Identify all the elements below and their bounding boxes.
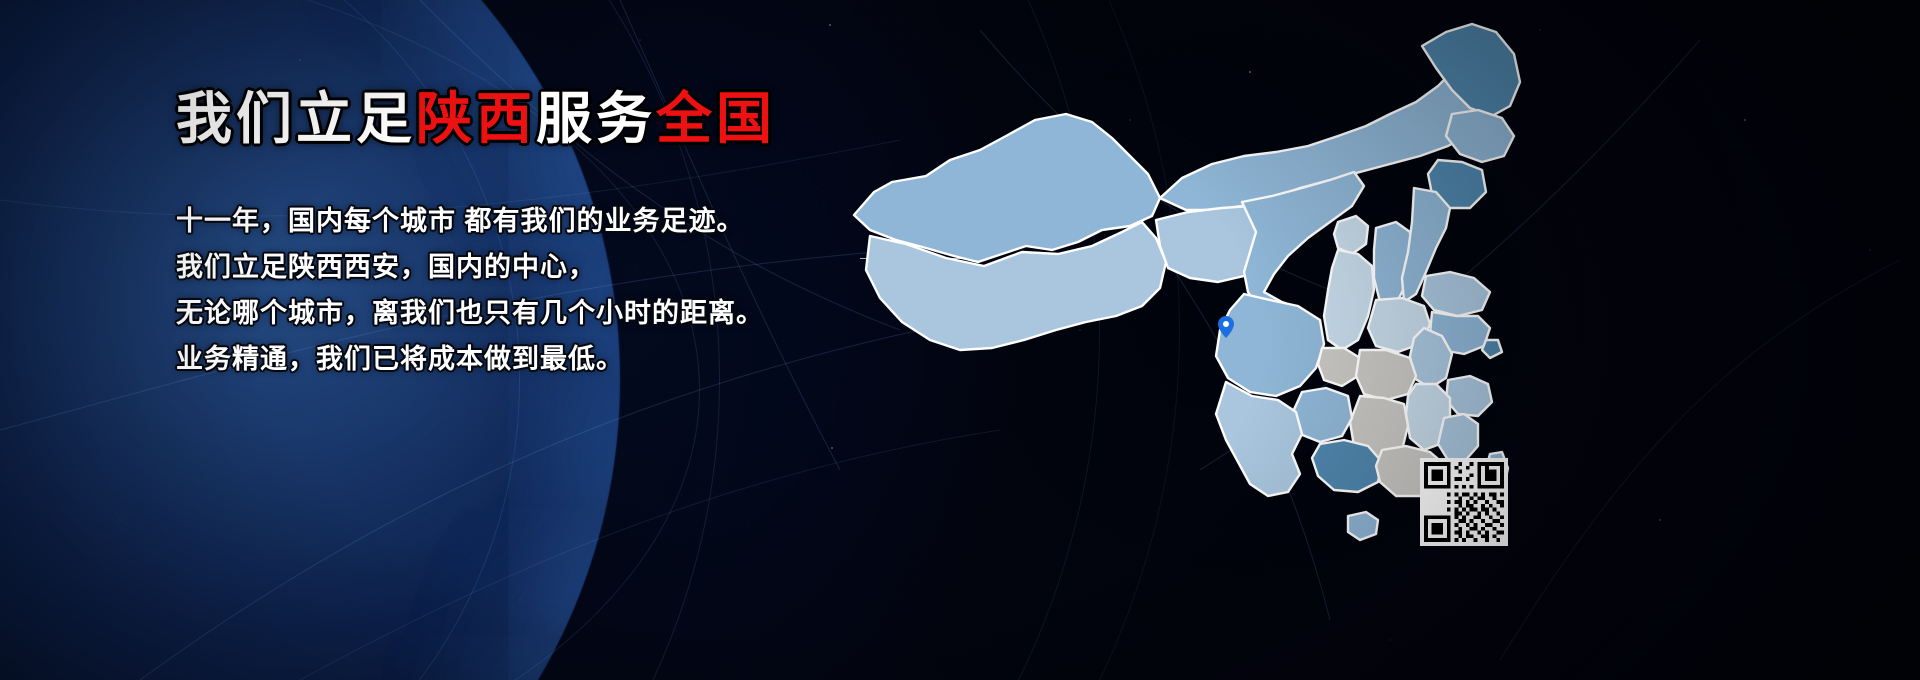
headline-segment-3: 服务 <box>536 87 656 150</box>
hero-banner: 我们立足陕西服务全国 十一年，国内每个城市 都有我们的业务足迹。 我们立足陕西西… <box>0 0 1920 680</box>
page-title: 我们立足陕西服务全国 <box>176 88 776 150</box>
body-line-3: 无论哪个城市，离我们也只有几个小时的距离。 <box>176 290 764 336</box>
body-text: 十一年，国内每个城市 都有我们的业务足迹。 我们立足陕西西安，国内的中心， 无论… <box>176 198 764 382</box>
headline-segment-4: 全国 <box>656 87 776 150</box>
body-line-2: 我们立足陕西西安，国内的中心， <box>176 244 764 290</box>
map-pin-icon <box>1218 316 1234 338</box>
qr-code-icon[interactable] <box>1420 458 1508 546</box>
headline-segment-1: 我们立足 <box>176 87 416 150</box>
headline-segment-2: 陕西 <box>416 87 536 150</box>
body-line-1: 十一年，国内每个城市 都有我们的业务足迹。 <box>176 198 764 244</box>
body-line-4: 业务精通，我们已将成本做到最低。 <box>176 336 764 382</box>
